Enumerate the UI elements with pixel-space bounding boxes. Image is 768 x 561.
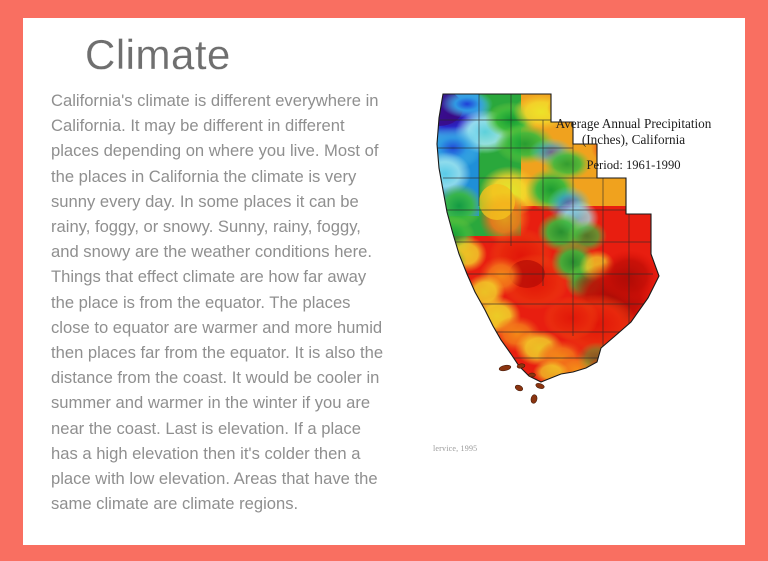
map-title-block: Average Annual Precipitation (Inches), C… bbox=[531, 116, 736, 173]
map-title-line-1: Average Annual Precipitation bbox=[531, 116, 736, 132]
map-source-caption: lervice, 1995 bbox=[433, 444, 477, 453]
page-title: Climate bbox=[85, 33, 231, 77]
map-title-line-2: (Inches), California bbox=[531, 132, 736, 148]
precipitation-map-figure: Average Annual Precipitation (Inches), C… bbox=[401, 86, 741, 466]
slide-canvas: Climate California's climate is differen… bbox=[23, 18, 745, 545]
body-paragraph: California's climate is different everyw… bbox=[51, 88, 389, 516]
map-period-label: Period: 1961-1990 bbox=[531, 158, 736, 173]
